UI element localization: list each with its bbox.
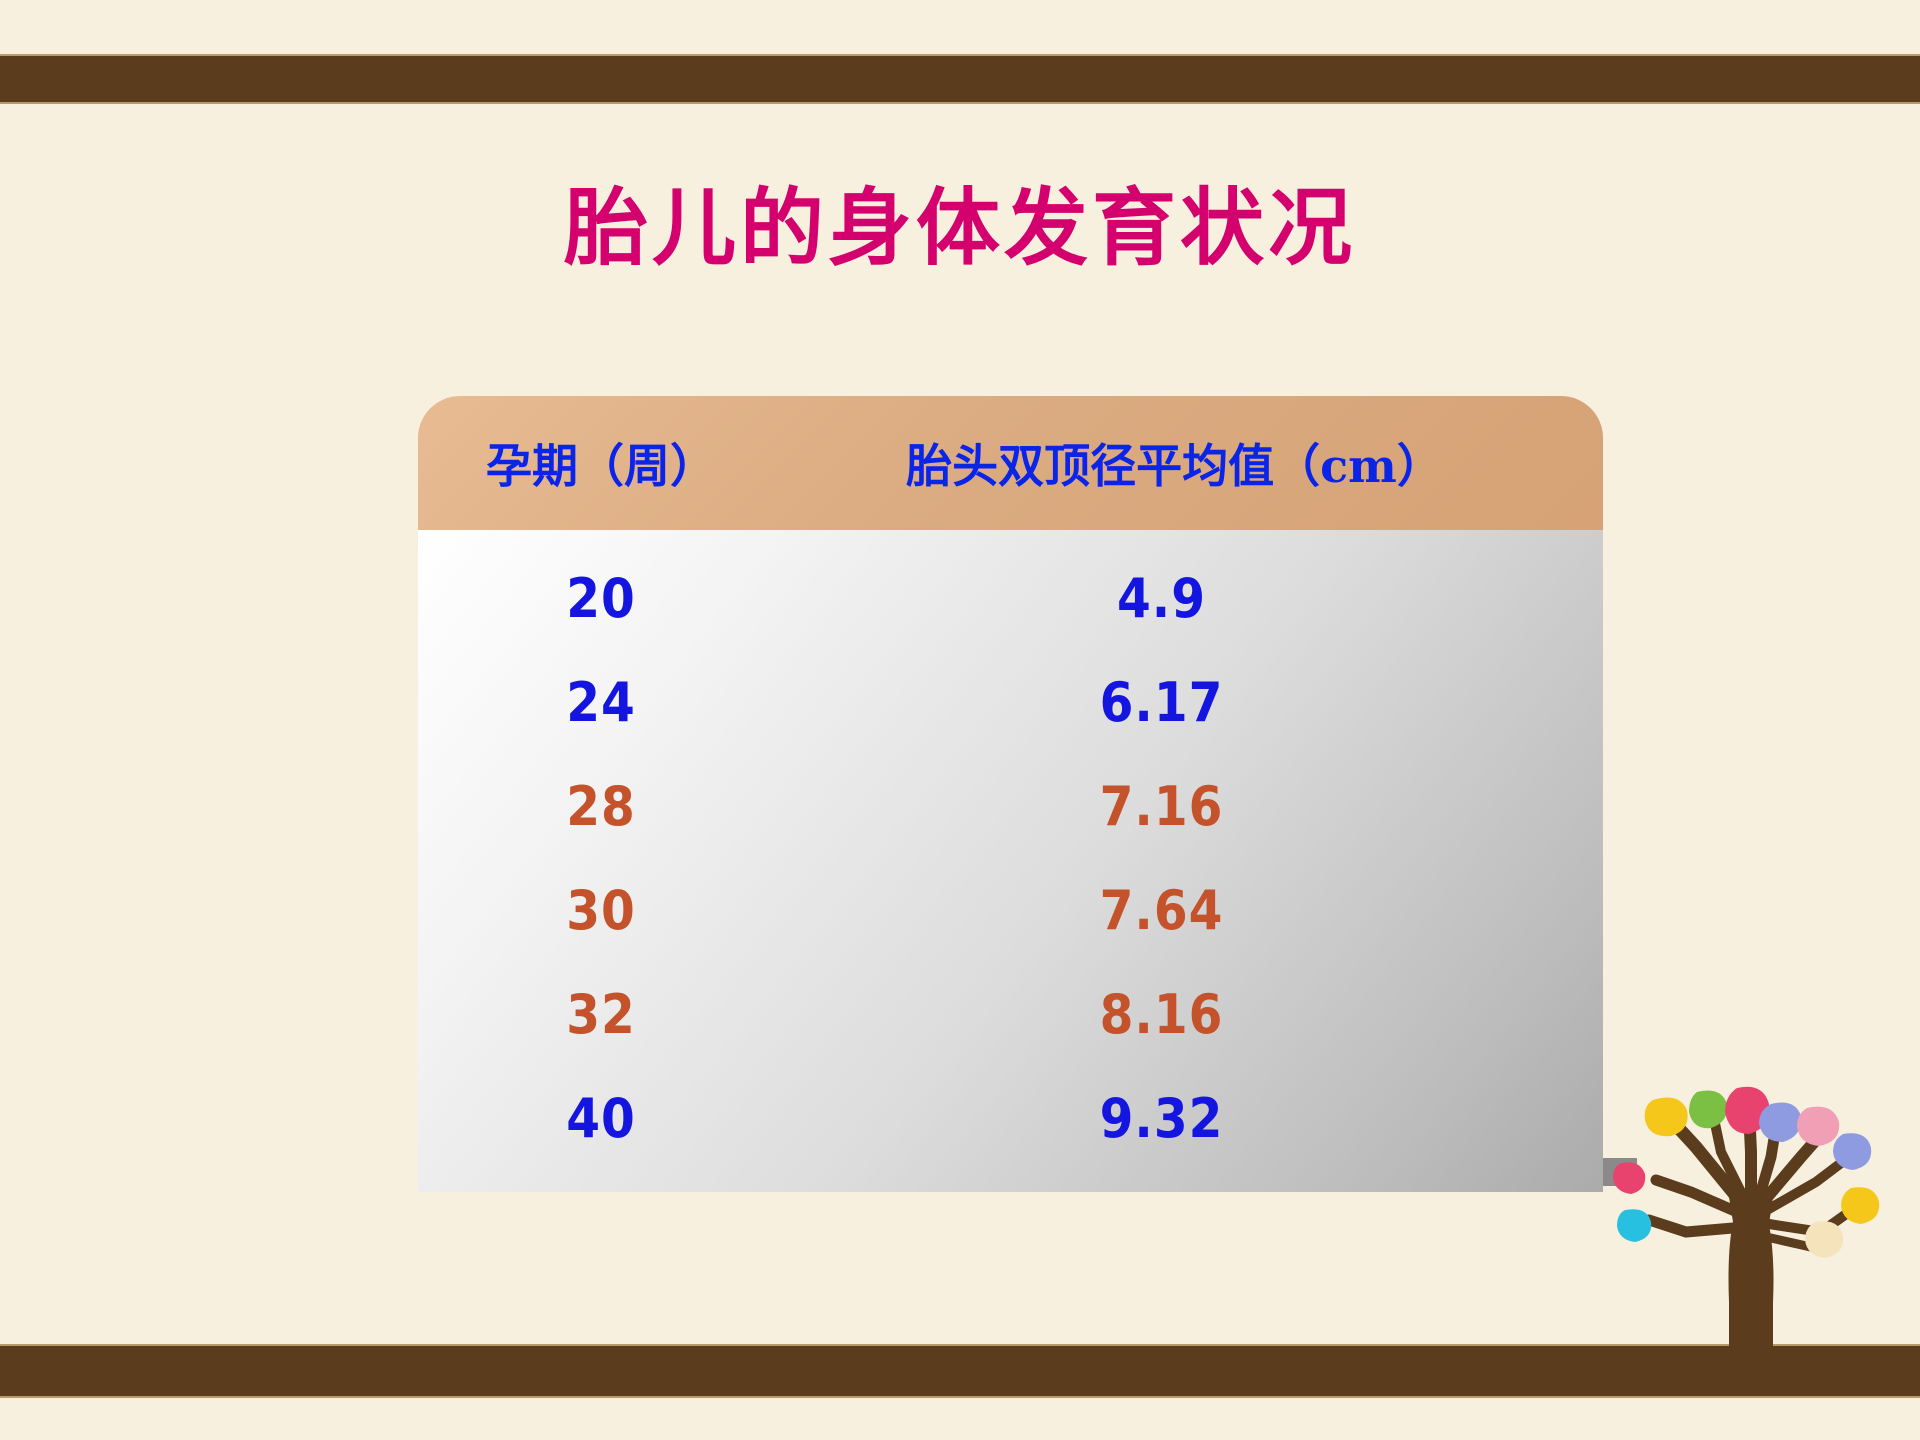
cell-bpd-value: 7.16 (766, 775, 1603, 838)
table-body: 20 4.9 24 6.17 28 7.16 30 7.64 32 8.16 4… (418, 530, 1603, 1192)
cell-weeks: 28 (418, 775, 766, 838)
cell-bpd-value: 7.64 (766, 879, 1603, 942)
table-row: 20 4.9 (418, 546, 1603, 650)
page-title: 胎儿的身体发育状况 (0, 184, 1920, 272)
table-row: 30 7.64 (418, 858, 1603, 962)
cell-bpd-value: 6.17 (766, 671, 1603, 734)
column-header-bpd: 胎头双顶径平均值（cm） (766, 430, 1603, 496)
bottom-decorative-bar (0, 1344, 1920, 1398)
cell-weeks: 20 (418, 567, 766, 630)
table-header-row: 孕期（周） 胎头双顶径平均值（cm） (418, 396, 1603, 530)
top-decorative-bar (0, 54, 1920, 104)
cell-weeks: 40 (418, 1087, 766, 1150)
cell-weeks: 24 (418, 671, 766, 734)
slide-canvas: 胎儿的身体发育状况 孕期（周） 胎头双顶径平均值（cm） 20 4.9 24 6… (0, 0, 1920, 1440)
cell-bpd-value: 4.9 (766, 567, 1603, 630)
table-row: 32 8.16 (418, 962, 1603, 1066)
table-row: 28 7.16 (418, 754, 1603, 858)
tree-decoration-icon (1596, 1052, 1920, 1352)
column-header-weeks: 孕期（周） (418, 430, 766, 496)
table-row: 40 9.32 (418, 1066, 1603, 1170)
cell-weeks: 32 (418, 983, 766, 1046)
cell-weeks: 30 (418, 879, 766, 942)
table-row: 24 6.17 (418, 650, 1603, 754)
cell-bpd-value: 9.32 (766, 1087, 1603, 1150)
cell-bpd-value: 8.16 (766, 983, 1603, 1046)
fetal-growth-table: 孕期（周） 胎头双顶径平均值（cm） 20 4.9 24 6.17 28 7.1… (418, 396, 1603, 1192)
